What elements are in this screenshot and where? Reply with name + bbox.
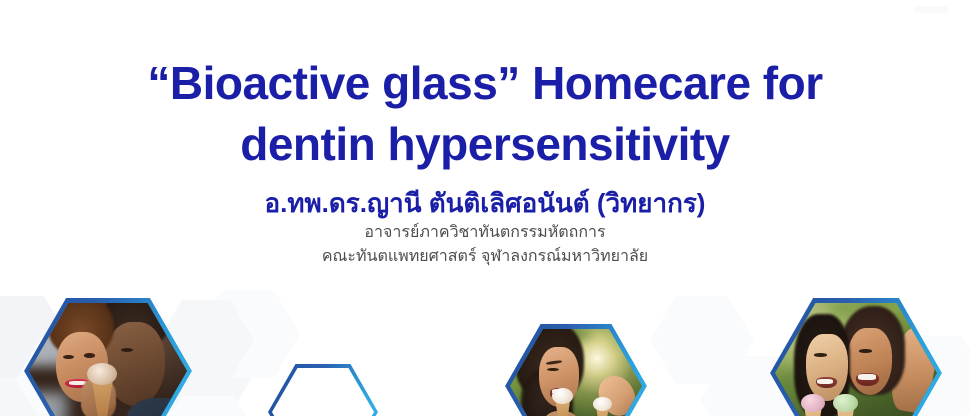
hex-photo-couple-icecream [24, 298, 192, 416]
speaker-block: อ.ทพ.ดร.ญานี ตันติเลิศอนันต์ (วิทยากร) อ… [0, 186, 970, 268]
page-title: “Bioactive glass” Homecare for dentin hy… [0, 53, 970, 174]
person-teeth [858, 374, 876, 380]
presentation-slide: “Bioactive glass” Homecare for dentin hy… [0, 0, 970, 416]
hex-outline-empty [268, 364, 378, 416]
title-line-1: “Bioactive glass” Homecare for [0, 53, 970, 114]
person-teeth [817, 379, 833, 384]
person-eye [84, 353, 95, 357]
hexagon-inner-hole [272, 368, 374, 416]
person-eye [63, 355, 74, 359]
ice-cream-scoop [87, 363, 117, 385]
watermark-hexagon-icon [650, 296, 754, 384]
person-eye [859, 349, 872, 353]
ice-cream-scoop [833, 394, 857, 412]
photo-woman-icecream [510, 329, 642, 416]
watermark-hexagon-icon [196, 290, 300, 378]
photo-couple-icecream [29, 303, 187, 416]
person-eye [121, 348, 134, 352]
photo-friends-selfie [775, 303, 937, 416]
ice-cream-scoop [593, 397, 611, 411]
person-face [806, 334, 848, 401]
title-line-2: dentin hypersensitivity [0, 114, 970, 175]
speaker-affiliation-1: อาจารย์ภาควิชาทันตกรรมหัตถการ [0, 221, 970, 244]
person-eye [814, 353, 827, 357]
corner-artifact [914, 6, 948, 13]
speaker-affiliation-2: คณะทันตแพทยศาสตร์ จุฬาลงกรณ์มหาวิทยาลัย [0, 245, 970, 268]
speaker-name: อ.ทพ.ดร.ญานี ตันติเลิศอนันต์ (วิทยากร) [0, 186, 970, 221]
hex-photo-friends-selfie [770, 298, 942, 416]
hex-photo-woman-icecream [505, 324, 647, 416]
person-eye [547, 368, 559, 371]
